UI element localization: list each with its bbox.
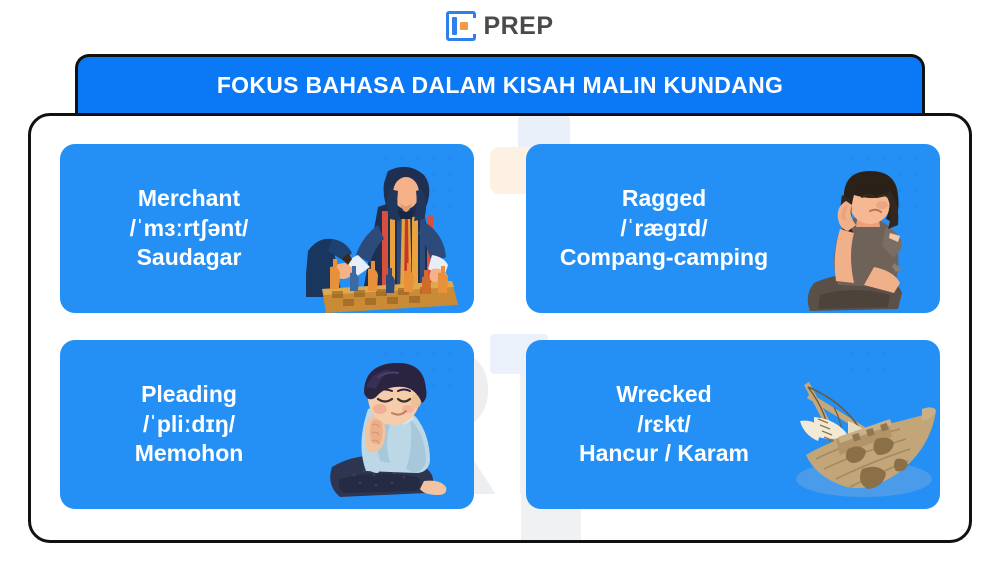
vocab-card-pleading[interactable]: Pleading /ˈpliːdɪŋ/ Memohon <box>60 340 474 509</box>
vocab-translation: Compang-camping <box>538 243 790 272</box>
vocab-ipa: /ˈpliːdɪŋ/ <box>72 410 306 439</box>
logo-wordmark: PREP <box>483 14 553 39</box>
prep-logo: PREP <box>446 11 553 41</box>
vocab-card-ragged[interactable]: Ragged /ˈrægɪd/ Compang-camping <box>526 144 940 313</box>
vocab-card-wrecked[interactable]: Wrecked /rɛkt/ Hancur / Karam <box>526 340 940 509</box>
vocab-text-merchant: Merchant /ˈmɜːrtʃənt/ Saudagar <box>60 184 306 272</box>
merchant-with-spice-jars-illustration <box>306 144 474 313</box>
sad-woman-in-ragged-clothes-illustration <box>790 144 940 313</box>
vocab-translation: Memohon <box>72 439 306 468</box>
kneeling-boy-praying-illustration <box>306 340 474 509</box>
vocab-ipa: /rɛkt/ <box>538 410 790 439</box>
prep-square-logo-icon <box>446 11 476 41</box>
vocab-word: Merchant <box>72 184 306 213</box>
brand-logo-bar: PREP <box>0 0 1000 52</box>
vocab-text-pleading: Pleading /ˈpliːdɪŋ/ Memohon <box>60 380 306 468</box>
vocab-card-merchant[interactable]: Merchant /ˈmɜːrtʃənt/ Saudagar <box>60 144 474 313</box>
vocab-text-wrecked: Wrecked /rɛkt/ Hancur / Karam <box>526 380 790 468</box>
vocab-text-ragged: Ragged /ˈrægɪd/ Compang-camping <box>526 184 790 272</box>
vocab-word: Wrecked <box>538 380 790 409</box>
vocabulary-card-grid: Merchant /ˈmɜːrtʃənt/ Saudagar <box>31 116 969 540</box>
vocab-translation: Saudagar <box>72 243 306 272</box>
page-title: FOKUS BAHASA DALAM KISAH MALIN KUNDANG <box>217 72 783 99</box>
vocab-word: Ragged <box>538 184 790 213</box>
header-banner: FOKUS BAHASA DALAM KISAH MALIN KUNDANG <box>75 54 925 114</box>
vocab-ipa: /ˈmɜːrtʃənt/ <box>72 214 306 243</box>
vocab-translation: Hancur / Karam <box>538 439 790 468</box>
vocab-ipa: /ˈrægɪd/ <box>538 214 790 243</box>
wrecked-ship-illustration <box>790 340 940 509</box>
vocab-word: Pleading <box>72 380 306 409</box>
content-frame: PREP Merchant /ˈmɜːrtʃənt/ Saudagar <box>28 113 972 543</box>
